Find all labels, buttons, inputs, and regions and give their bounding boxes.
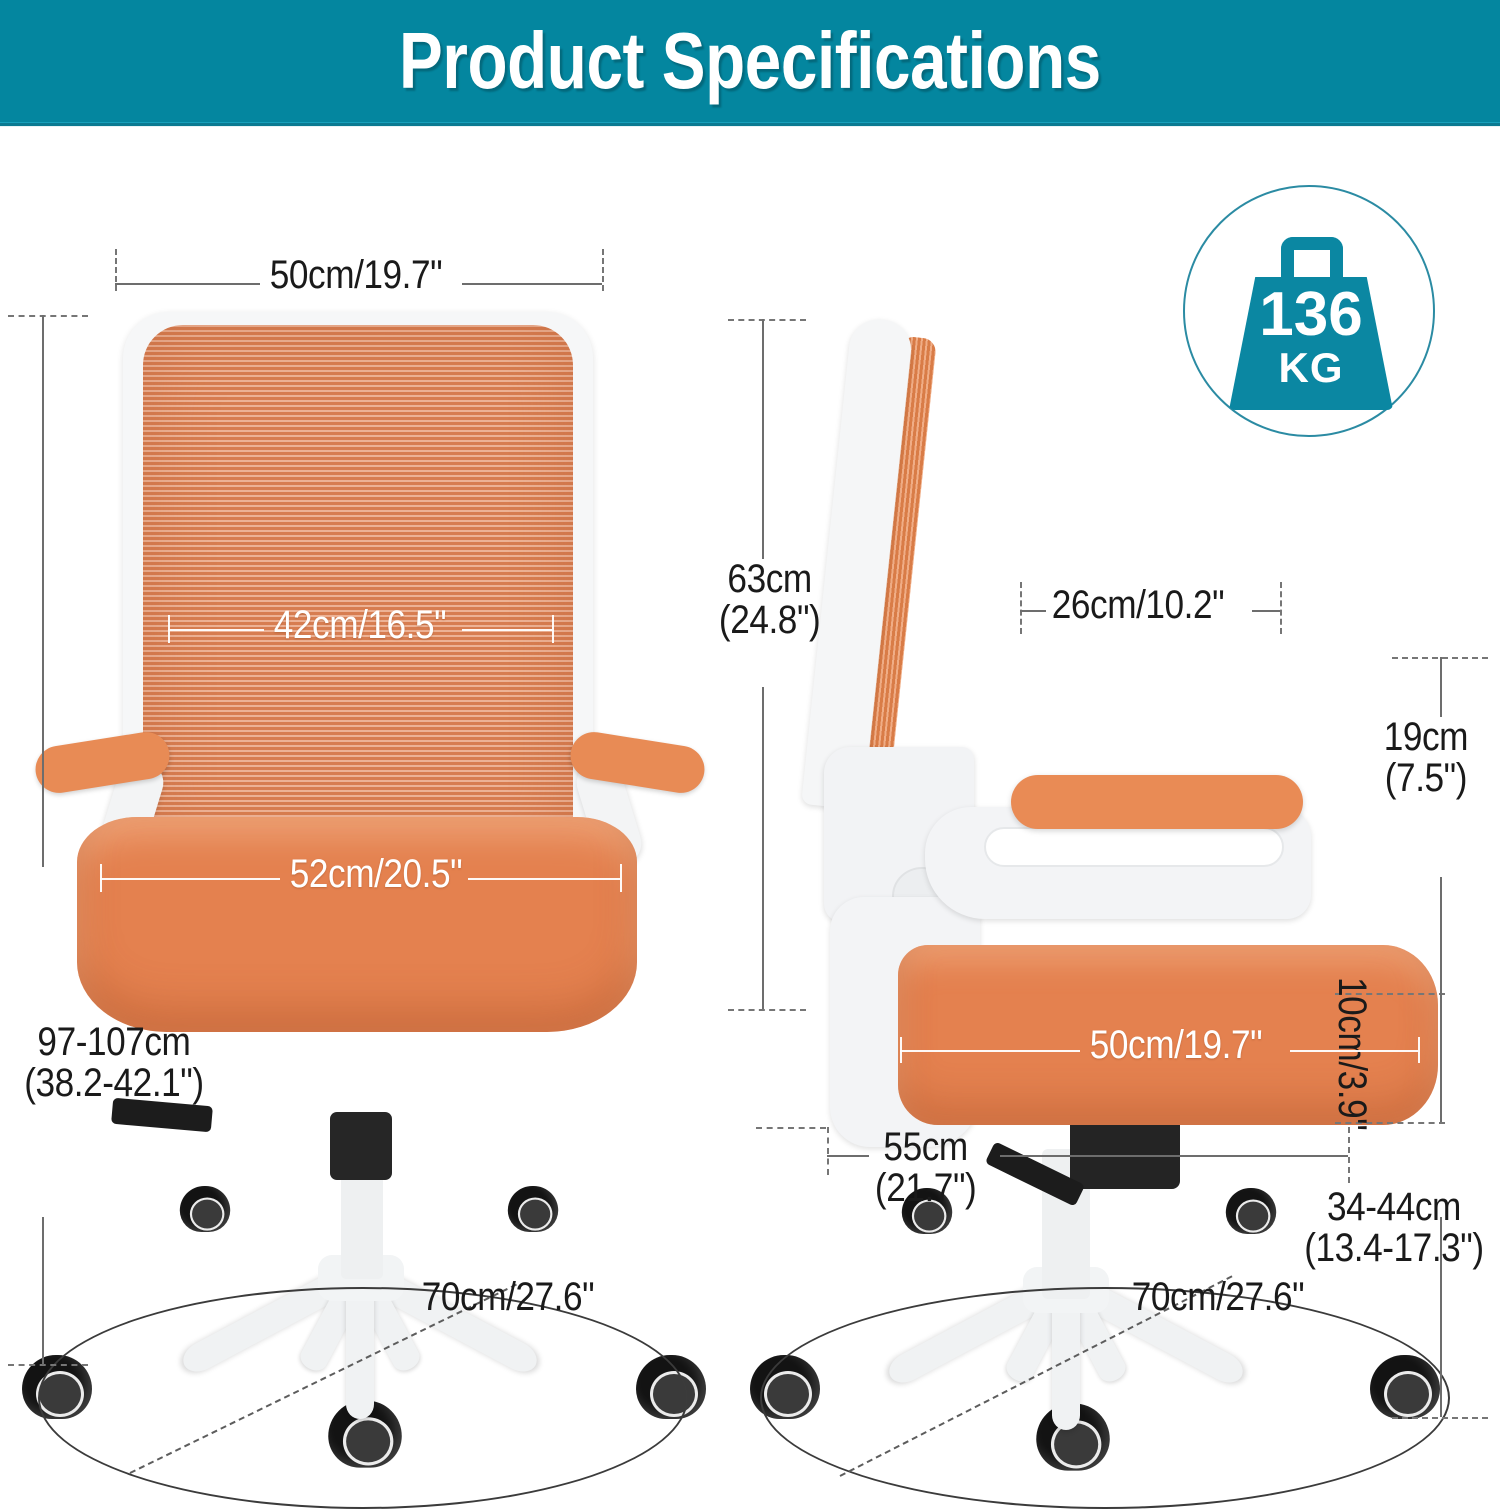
base-footprint-circle [38, 1287, 688, 1509]
dim-tick-backrest-width [552, 615, 554, 643]
dim-label-base-diameter-front: 70cm/27.6" [422, 1277, 594, 1318]
dim-extension-line [756, 1127, 826, 1129]
dim-line-backrest-height [762, 687, 764, 1009]
dim-line-seat-depth [1290, 1050, 1418, 1052]
gas-lift-housing [1070, 1117, 1180, 1189]
dim-label-seat-back-depth-line2: (21.7") [875, 1166, 976, 1210]
base-footprint-circle [760, 1287, 1450, 1509]
dim-label-backrest-height-line2: (24.8") [719, 598, 820, 642]
dim-line-seat-back-depth [827, 1155, 869, 1157]
dim-label-backrest-height: 63cm (24.8") [719, 559, 820, 641]
dim-line-seat-thickness [1440, 993, 1442, 1122]
dim-extension-line [728, 319, 806, 321]
dim-label-backrest-width: 42cm/16.5" [274, 605, 446, 646]
armrest-pad [1011, 775, 1303, 829]
dim-extension-line [1348, 1127, 1350, 1183]
dim-label-armrest-length: 26cm/10.2" [1052, 585, 1224, 626]
caster-icon [180, 1186, 230, 1232]
dim-line-right-reference [1440, 1217, 1442, 1417]
dim-line-armrest-height [1440, 877, 1442, 993]
dim-label-seat-width: 52cm/20.5" [290, 854, 462, 895]
dim-label-height-line2: (38.2-42.1") [24, 1061, 203, 1105]
dim-line-overall-height [42, 1217, 44, 1365]
dim-line-backrest-height [762, 319, 764, 559]
front-view-chair-illustration [0, 127, 740, 1450]
dim-label-seat-back-depth-line1: 55cm [883, 1125, 967, 1169]
dim-extension-line [8, 1364, 88, 1366]
dim-line-armrest-length [1020, 610, 1046, 612]
seat-cushion [77, 817, 637, 1032]
dim-label-overall-height: 97-107cm (38.2-42.1") [24, 1022, 203, 1104]
dim-label-armrest-height-line2: (7.5") [1385, 756, 1467, 800]
dim-tick-seat-depth [1418, 1037, 1420, 1063]
dim-line-backrest-width [462, 629, 552, 631]
dim-label-overall-width: 50cm/19.7" [270, 255, 442, 296]
dim-extension-line [728, 1009, 806, 1011]
dim-label-backrest-height-line1: 63cm [727, 557, 811, 601]
dim-extension-line [1280, 582, 1282, 634]
dim-tick-seat-width [620, 864, 622, 892]
dim-extension-line [602, 249, 604, 291]
dim-label-height-line1: 97-107cm [37, 1020, 190, 1064]
dim-label-base-diameter-side: 70cm/27.6" [1132, 1277, 1304, 1318]
dim-label-seat-thickness: 10cm/3.9" [1331, 977, 1372, 1130]
dim-line-overall-width [462, 283, 602, 285]
page-title: Product Specifications [399, 15, 1101, 107]
dim-line-armrest-length [1252, 610, 1280, 612]
seat-shading [77, 817, 637, 1032]
dim-line-overall-height [42, 315, 44, 867]
specification-diagram: 136 KG [0, 127, 1500, 1450]
caster-icon [508, 1186, 558, 1232]
dim-line-seat-width [100, 878, 280, 880]
dim-line-armrest-height [1440, 657, 1442, 717]
dim-extension-line [827, 1127, 829, 1175]
armrest-opening [984, 827, 1284, 867]
page-header-bar: Product Specifications [0, 0, 1500, 122]
backrest-mesh [143, 325, 573, 865]
dim-label-armrest-height: 19cm (7.5") [1384, 717, 1468, 799]
gas-lift-housing [330, 1112, 392, 1180]
dim-line-seat-depth [900, 1050, 1080, 1052]
dim-line-backrest-width [168, 629, 264, 631]
dim-extension-line [1020, 582, 1022, 634]
dim-line-seat-width [468, 878, 620, 880]
caster-icon [1226, 1188, 1276, 1234]
dim-label-seat-height-line2: (13.4-17.3") [1304, 1226, 1483, 1270]
dim-line-seat-back-depth [1000, 1155, 1348, 1157]
dim-line-overall-width [115, 283, 260, 285]
dim-extension-line [8, 315, 88, 317]
gas-lift-column [341, 1174, 383, 1279]
dim-extension-line [1392, 1417, 1488, 1419]
dim-label-seat-height: 34-44cm (13.4-17.3") [1304, 1187, 1483, 1269]
dim-label-armrest-height-line1: 19cm [1384, 715, 1468, 759]
dim-label-seat-depth: 50cm/19.7" [1090, 1025, 1262, 1066]
dim-label-seat-back-depth: 55cm (21.7") [875, 1127, 976, 1209]
